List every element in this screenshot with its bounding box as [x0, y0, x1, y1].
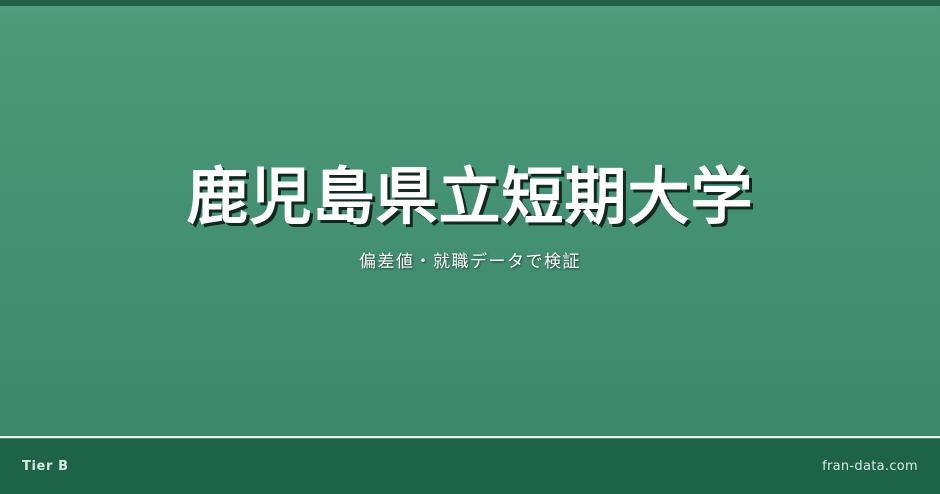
footer-divider [0, 436, 940, 438]
page-title: 鹿児島県立短期大学 [186, 164, 753, 230]
page-subtitle: 偏差値・就職データで検証 [359, 247, 581, 272]
tier-badge: Tier B [22, 459, 69, 474]
title-slide: 鹿児島県立短期大学 偏差値・就職データで検証 Tier B fran-data.… [0, 0, 940, 494]
footer-bar: Tier B fran-data.com [0, 439, 940, 494]
hero-section: 鹿児島県立短期大学 偏差値・就職データで検証 [0, 0, 940, 436]
site-attribution: fran-data.com [822, 459, 918, 474]
